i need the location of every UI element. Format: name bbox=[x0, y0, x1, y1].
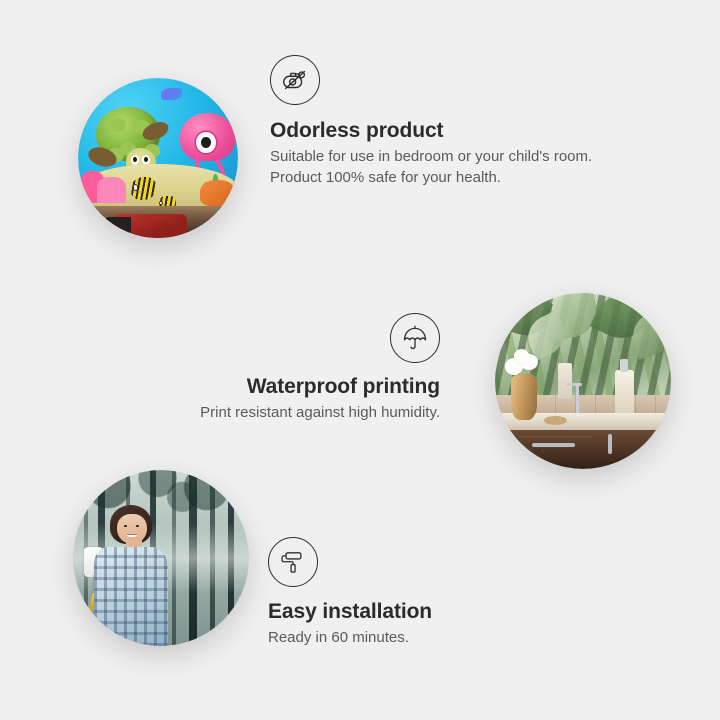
feature-title: Easy installation bbox=[268, 600, 598, 624]
no-odor-perfume-bottle-icon bbox=[270, 55, 320, 105]
paint-roller-icon bbox=[268, 537, 318, 587]
bed-side-panel bbox=[105, 217, 131, 238]
photo-bathroom-tropical-wallpaper[interactable] bbox=[495, 293, 671, 469]
feature-waterproof: Waterproof printing Print resistant agai… bbox=[120, 313, 440, 423]
yellow-striped-fish-icon bbox=[131, 177, 157, 199]
turtle-eye bbox=[131, 155, 140, 165]
faucet-icon bbox=[576, 385, 579, 417]
feature-odorless: Odorless product Suitable for use in bed… bbox=[270, 55, 630, 189]
feature-easy-installation: Easy installation Ready in 60 minutes. bbox=[268, 537, 598, 648]
photo-forest-mural-woman-roller[interactable] bbox=[73, 470, 249, 646]
wood-vanity-cabinet bbox=[506, 430, 671, 469]
starfish-icon bbox=[200, 180, 235, 206]
icon-row bbox=[120, 313, 440, 363]
feature-title: Odorless product bbox=[270, 119, 630, 143]
soap-dish bbox=[544, 416, 567, 425]
umbrella-icon bbox=[390, 313, 440, 363]
photo-kids-underwater-mural[interactable] bbox=[78, 78, 238, 238]
mirror-panel bbox=[558, 363, 572, 398]
feature-description: Suitable for use in bedroom or your chil… bbox=[270, 146, 630, 189]
cabinet-handle bbox=[608, 434, 612, 454]
woman-smile bbox=[127, 534, 137, 537]
soap-dispenser bbox=[615, 370, 634, 416]
woman-eye bbox=[136, 525, 140, 527]
feature-highlights-page: Odorless product Suitable for use in bed… bbox=[0, 0, 720, 720]
woman-plaid-shirt bbox=[94, 547, 168, 646]
feature-description: Print resistant against high humidity. bbox=[120, 402, 440, 423]
feature-title: Waterproof printing bbox=[120, 375, 440, 399]
octopus-eye bbox=[196, 132, 215, 153]
feature-description: Ready in 60 minutes. bbox=[268, 627, 598, 648]
coral-icon bbox=[97, 177, 126, 203]
drawer-handle bbox=[532, 443, 575, 447]
white-flowers bbox=[502, 349, 548, 381]
woman-eye bbox=[124, 525, 128, 527]
